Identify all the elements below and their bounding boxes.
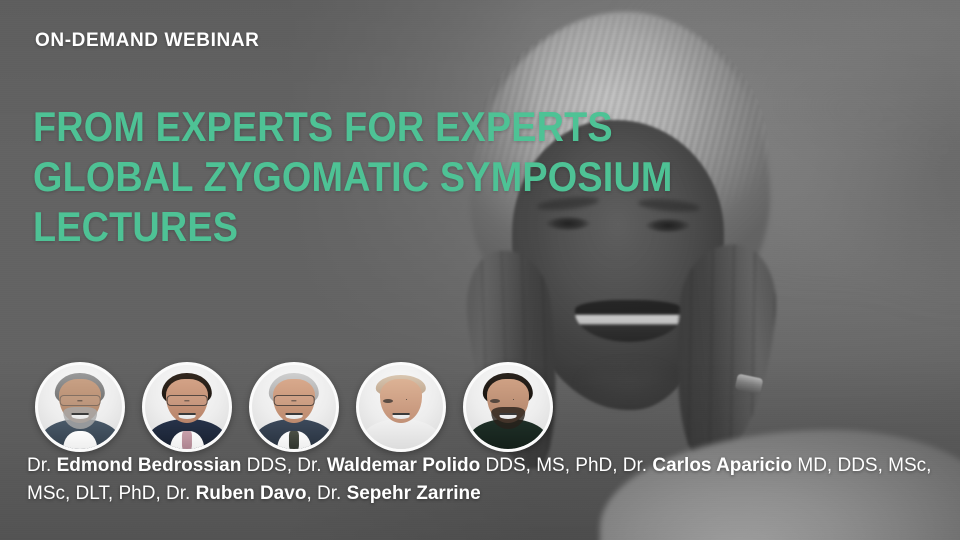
headline-line-2: GLOBAL ZYGOMATIC SYMPOSIUM (33, 152, 591, 202)
portrait-photo (466, 365, 550, 449)
eyebrow-label: ON-DEMAND WEBINAR (35, 31, 259, 50)
speaker-name: Ruben Davo (196, 483, 307, 504)
page-title: FROM EXPERTS FOR EXPERTS GLOBAL ZYGOMATI… (33, 102, 591, 252)
speaker-name: Sepehr Zarrine (347, 483, 481, 504)
speaker-credential: Dr. (27, 455, 57, 476)
speaker-avatar-list (35, 362, 553, 452)
avatar-carlos-aparicio (249, 362, 339, 452)
speaker-name: Carlos Aparicio (652, 455, 792, 476)
headline-line-3: LECTURES (33, 202, 591, 252)
portrait-photo (359, 365, 443, 449)
speaker-credential: DDS, Dr. (241, 455, 327, 476)
avatar-waldemar-polido (142, 362, 232, 452)
avatar-sepehr-zarrine (463, 362, 553, 452)
portrait-photo (252, 365, 336, 449)
avatar-edmond-bedrossian (35, 362, 125, 452)
speaker-credential: , Dr. (306, 483, 346, 504)
portrait-photo (145, 365, 229, 449)
avatar-ruben-davo (356, 362, 446, 452)
webinar-banner: ON-DEMAND WEBINAR FROM EXPERTS FOR EXPER… (0, 0, 960, 540)
speaker-credential: DDS, MS, PhD, Dr. (480, 455, 652, 476)
headline-line-1: FROM EXPERTS FOR EXPERTS (33, 102, 591, 152)
speaker-credits-caption: Dr. Edmond Bedrossian DDS, Dr. Waldemar … (27, 452, 935, 508)
speaker-name: Waldemar Polido (327, 455, 480, 476)
portrait-photo (38, 365, 122, 449)
banner-content: ON-DEMAND WEBINAR FROM EXPERTS FOR EXPER… (0, 0, 960, 540)
speaker-name: Edmond Bedrossian (57, 455, 242, 476)
